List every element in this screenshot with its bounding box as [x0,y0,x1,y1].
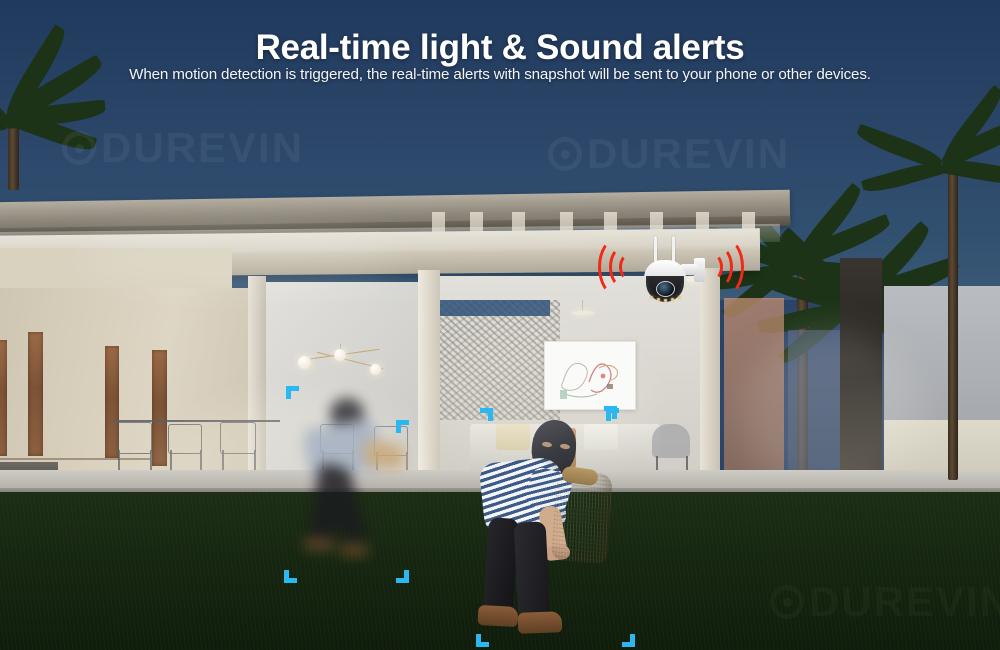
detection-bracket [606,408,619,421]
page-subtitle: When motion detection is triggered, the … [0,66,1000,83]
ir-led [678,296,681,299]
ir-led [671,298,674,301]
trousers-right [514,521,551,619]
detection-bracket [480,408,493,421]
watermark-text: DUREVIN [101,124,304,172]
detection-bracket [622,634,635,647]
watermark-ring-icon [770,585,804,619]
watermark-logo-top-center: DUREVIN [548,130,790,178]
pendant-light-left [296,344,388,382]
watermark-ring-icon [62,131,96,165]
framed-artwork [544,341,636,410]
detection-bracket [396,420,409,433]
copper-panel [724,298,784,488]
detection-bracket [476,634,489,647]
boot-right [518,611,563,634]
palm-tree-far-right [900,60,1000,460]
camera-lens [656,281,675,297]
glass-panel-right [788,330,840,490]
antenna-left-icon [654,236,657,262]
page-title: Real-time light & Sound alerts [0,28,1000,68]
intruder [476,414,616,638]
ceiling-light-center [568,300,598,322]
boot-left [478,605,519,627]
antenna-right-icon [672,236,675,262]
armchair-grey [652,424,690,458]
stone-feature-wall [440,300,560,420]
window-band-blue [440,300,550,316]
detection-bracket [396,570,409,583]
watermark-logo-bottom-right: DUREVIN [770,578,1000,626]
watermark-text: DUREVIN [587,130,790,178]
ir-led [650,296,653,299]
watermark-logo-top-left: DUREVIN [62,124,304,172]
motion-blur-figure [292,398,410,578]
watermark-ring-icon [548,137,582,171]
detection-bracket [284,570,297,583]
marketing-banner: DUREVIN DUREVIN DUREVIN [0,0,1000,650]
ptz-security-camera[interactable] [636,236,708,308]
watermark-text: DUREVIN [809,578,1000,626]
marble-column [840,258,882,498]
detection-bracket [286,386,299,399]
